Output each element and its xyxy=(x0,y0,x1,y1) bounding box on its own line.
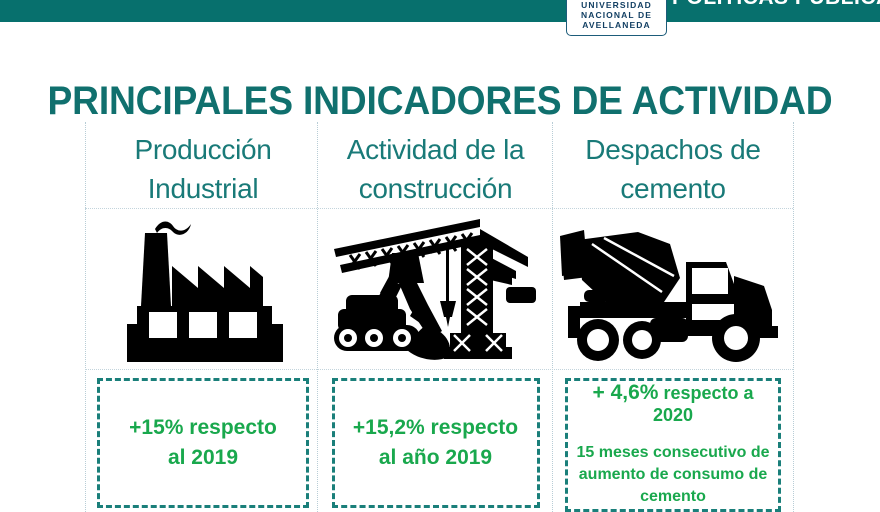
stat-sub-line-3: cemento xyxy=(640,486,706,508)
stat-line-1: +15% respecto xyxy=(129,413,277,443)
cement-mixer-truck-icon xyxy=(558,214,788,364)
indicator-column-actividad-construccion: Actividad de la construcción xyxy=(318,122,553,512)
stat-box-actividad-construccion: +15,2% respecto al año 2019 xyxy=(332,378,540,508)
column-heading-produccion-industrial: Producción Industrial xyxy=(85,130,321,208)
column-heading-actividad-construccion: Actividad de la construcción xyxy=(318,130,553,208)
heading-line-1: Producción xyxy=(85,130,321,169)
indicator-column-produccion-industrial: Producción Industrial +15% respecto al 2… xyxy=(85,122,321,512)
stat-headline-value: + 4,6% xyxy=(592,381,658,404)
logo-line-1: UNIVERSIDAD xyxy=(581,0,652,10)
stat-line-1: +15,2% respecto xyxy=(353,413,518,443)
grid-line-vertical-right xyxy=(793,122,794,512)
stat-headline: + 4,6% respecto a 2020 xyxy=(576,382,770,426)
logo-line-3: AVELLANEDA xyxy=(582,20,650,30)
heading-line-1: Actividad de la xyxy=(318,130,553,169)
stat-line-2: al 2019 xyxy=(168,443,238,473)
crane-excavator-icon xyxy=(330,213,542,365)
universidad-nacional-avellaneda-logo: UNIVERSIDAD NACIONAL DE AVELLANEDA xyxy=(566,0,667,36)
page-title: PRINCIPALES INDICADORES DE ACTIVIDAD xyxy=(31,79,849,124)
indicator-column-despachos-cemento: Despachos de cemento xyxy=(553,122,793,512)
stat-sub-line-1: 15 meses consecutivo de xyxy=(577,442,770,464)
politicas-publicas-banner: POLÍTICAS PÚBLICAS xyxy=(672,0,880,9)
factory-icon xyxy=(115,214,291,364)
stat-line-2: al año 2019 xyxy=(379,443,492,473)
stat-box-produccion-industrial: +15% respecto al 2019 xyxy=(97,378,309,508)
logo-line-2: NACIONAL DE xyxy=(581,10,652,20)
crane-excavator-icon-cell xyxy=(318,209,553,369)
heading-line-2: construcción xyxy=(318,169,553,208)
stat-headline-rest: respecto a 2020 xyxy=(653,383,754,425)
column-heading-despachos-cemento: Despachos de cemento xyxy=(553,130,793,208)
stat-sub-line-2: aumento de consumo de xyxy=(579,464,767,486)
cement-mixer-truck-icon-cell xyxy=(553,209,793,369)
stat-box-despachos-cemento: + 4,6% respecto a 2020 15 meses consecut… xyxy=(565,378,781,512)
heading-line-2: cemento xyxy=(553,169,793,208)
heading-line-1: Despachos de xyxy=(553,130,793,169)
factory-icon-cell xyxy=(85,209,321,369)
heading-line-2: Industrial xyxy=(85,169,321,208)
